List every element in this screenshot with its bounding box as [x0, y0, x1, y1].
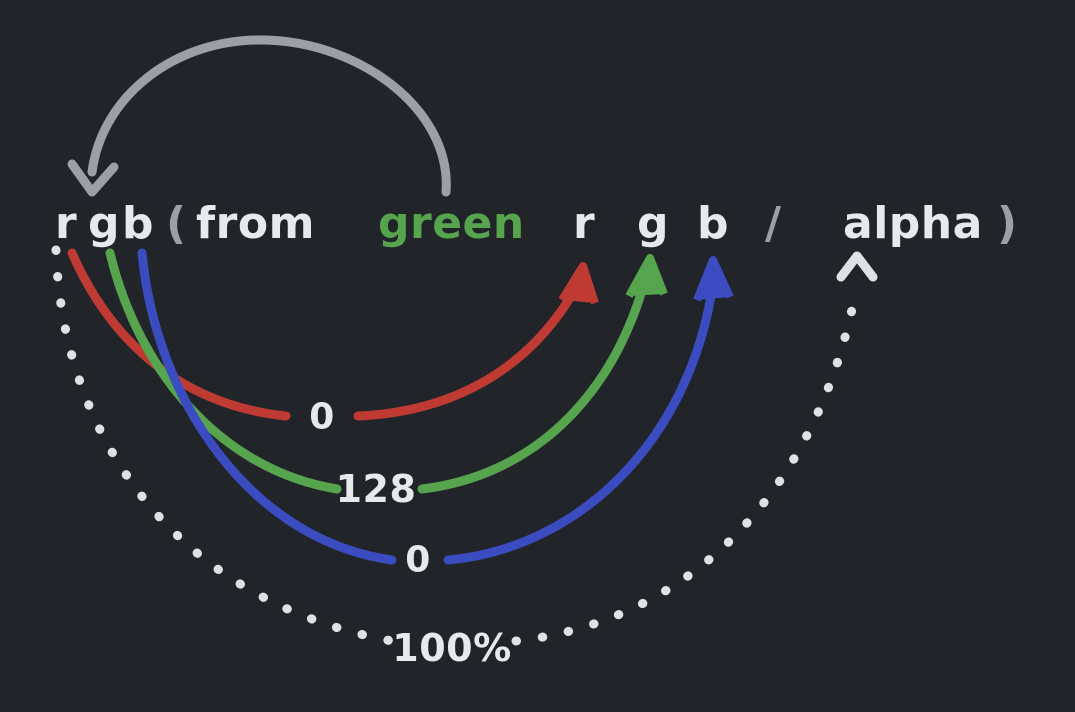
alpha-channel-value-label: 100% — [392, 626, 511, 670]
token-channel-g[interactable]: g — [637, 193, 669, 255]
red-channel-value-label: 0 — [309, 397, 335, 438]
token-function-b[interactable]: b — [122, 193, 154, 255]
syntax-line: r g b ( from green r g b / alpha ) — [0, 193, 1075, 255]
token-close-paren: ) — [997, 193, 1018, 255]
origin-color-arrow — [72, 40, 446, 192]
token-origin-color[interactable]: green — [378, 193, 525, 255]
token-open-paren: ( — [166, 193, 187, 255]
token-channel-r[interactable]: r — [573, 193, 595, 255]
token-slash: / — [765, 193, 782, 255]
token-function-g[interactable]: g — [88, 193, 120, 255]
connection-curves-layer — [0, 0, 1075, 712]
token-channel-alpha[interactable]: alpha — [843, 193, 983, 255]
green-channel-value-label: 128 — [336, 467, 417, 511]
diagram-canvas: r g b ( from green r g b / alpha ) 0 128… — [0, 0, 1075, 712]
alpha-channel-arrow — [56, 250, 873, 641]
token-function-r[interactable]: r — [55, 193, 77, 255]
token-channel-b[interactable]: b — [697, 193, 729, 255]
red-channel-arrow — [72, 253, 595, 416]
token-from-keyword[interactable]: from — [196, 193, 315, 255]
blue-channel-value-label: 0 — [405, 540, 431, 581]
